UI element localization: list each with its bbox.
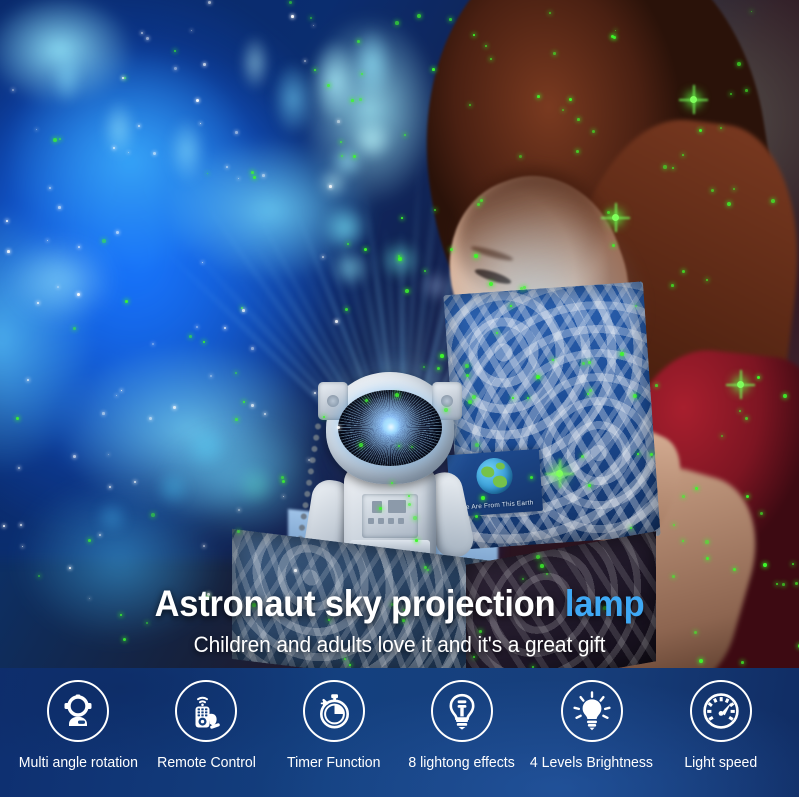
laser-star-dot	[620, 352, 624, 356]
nebula-sparkle	[99, 534, 101, 536]
laser-star-dot	[792, 563, 794, 565]
laser-star-dot	[88, 539, 91, 542]
feature-item-3[interactable]: 8 lightong effects	[398, 680, 526, 771]
laser-star-dot	[189, 335, 192, 338]
laser-star-dot	[174, 50, 176, 52]
nebula-sparkle	[153, 152, 156, 155]
laser-star-dot	[552, 359, 554, 361]
laser-star-dot	[536, 555, 540, 559]
laser-star-dot	[637, 453, 639, 455]
nebula-sparkle	[238, 509, 240, 511]
laser-star-dot	[395, 21, 399, 25]
laser-star-flare	[737, 381, 744, 388]
laser-star-dot	[340, 141, 342, 143]
feature-label: Timer Function	[287, 754, 381, 771]
laser-star-dot	[720, 127, 722, 129]
nebula-sparkle	[149, 417, 152, 420]
nebula-sparkle	[337, 120, 340, 123]
nebula-sparkle	[113, 147, 115, 149]
laser-star-dot	[587, 393, 589, 395]
feature-label: Light speed	[685, 754, 758, 771]
feature-label: Multi angle rotation	[18, 754, 137, 771]
laser-star-dot	[357, 40, 360, 43]
laser-star-dot	[243, 401, 245, 403]
laser-star-dot	[468, 400, 472, 404]
astronaut-helmet-icon	[47, 680, 109, 742]
laser-star-dot	[633, 394, 637, 398]
laser-star-dot	[432, 68, 435, 71]
laser-star-dot	[351, 99, 354, 102]
laser-star-dot	[359, 443, 363, 447]
laser-star-dot	[401, 217, 403, 219]
laser-star-flare	[612, 214, 619, 221]
laser-star-dot	[655, 384, 658, 387]
lightbulb-effects-icon	[431, 680, 493, 742]
nebula-sparkle	[69, 567, 71, 569]
nebula-sparkle	[203, 63, 206, 66]
laser-star-dot	[281, 476, 284, 479]
feature-banner: Multi angle rotation Remote Control	[0, 668, 799, 797]
nebula-sparkle	[27, 379, 29, 381]
nebula-sparkle	[314, 392, 316, 394]
laser-star-dot	[415, 539, 418, 542]
nebula-sparkle	[78, 246, 80, 248]
lightbulb-rays-icon	[561, 680, 623, 742]
nebula-sparkle	[262, 174, 265, 177]
laser-star-dot	[449, 18, 452, 21]
nebula-sparkle	[251, 347, 254, 350]
laser-star-dot	[588, 484, 591, 487]
feature-label: 8 lightong effects	[409, 754, 515, 771]
laser-star-dot	[472, 395, 476, 399]
laser-star-dot	[739, 410, 741, 412]
laser-star-dot	[73, 327, 76, 330]
laser-star-dot	[553, 52, 556, 55]
page-title: Astronaut sky projection lamp	[28, 583, 771, 625]
bokeh-light	[52, 52, 82, 104]
laser-star-dot	[469, 104, 471, 106]
nebula-sparkle	[322, 256, 324, 258]
nebula-sparkle	[173, 406, 176, 409]
laser-star-dot	[682, 270, 685, 273]
nebula-sparkle	[73, 455, 76, 458]
laser-star-dot	[473, 34, 475, 36]
product-marketing-banner: We Are From This Earth	[0, 0, 799, 797]
laser-star-dot	[235, 372, 237, 374]
laser-star-dot	[474, 254, 478, 258]
laser-star-dot	[771, 199, 775, 203]
feature-item-4[interactable]: 4 Levels Brightness	[526, 680, 657, 771]
nebula-sparkle	[116, 231, 119, 234]
nebula-sparkle	[329, 185, 332, 188]
laser-star-dot	[450, 248, 453, 251]
laser-star-dot	[481, 496, 485, 500]
laser-star-dot	[408, 495, 410, 497]
laser-star-dot	[699, 129, 702, 132]
laser-star-dot	[582, 362, 585, 365]
laser-star-dot	[444, 408, 448, 412]
laser-star-dot	[235, 418, 238, 421]
laser-star-dot	[745, 89, 748, 92]
nebula-sparkle	[141, 32, 143, 34]
globe-icon	[475, 457, 513, 495]
nebula-sparkle	[58, 206, 61, 209]
laser-star-dot	[490, 58, 492, 60]
laser-star-dot	[663, 165, 667, 169]
nebula-sparkle	[308, 459, 310, 461]
laser-star-dot	[611, 35, 614, 38]
bokeh-light	[95, 500, 129, 534]
laser-star-dot	[682, 495, 685, 498]
bokeh-light	[102, 100, 136, 158]
laser-star-dot	[523, 286, 526, 289]
laser-star-dot	[379, 507, 382, 510]
feature-list: Multi angle rotation Remote Control	[0, 668, 799, 797]
laser-star-dot	[289, 1, 292, 4]
nebula-sparkle	[251, 404, 254, 407]
laser-star-dot	[705, 540, 709, 544]
laser-star-dot	[512, 397, 514, 399]
laser-star-dot	[741, 661, 744, 664]
laser-star-dot	[577, 118, 580, 121]
laser-star-dot	[540, 564, 544, 568]
bokeh-light	[185, 425, 229, 469]
feature-label: 4 Levels Brightness	[530, 754, 653, 771]
nebula-sparkle	[77, 293, 80, 296]
laser-star-dot	[562, 109, 564, 111]
laser-star-dot	[465, 364, 469, 368]
nebula-sparkle	[37, 302, 39, 304]
laser-star-dot	[581, 455, 584, 458]
laser-star-dot	[59, 138, 61, 140]
nebula-sparkle	[152, 343, 154, 345]
laser-star-dot	[737, 62, 741, 66]
nebula-sparkle	[102, 412, 105, 415]
lens-light-core	[382, 418, 400, 436]
nebula-sparkle	[3, 525, 5, 527]
laser-star-dot	[53, 138, 57, 142]
title-main: Astronaut sky projection	[155, 583, 556, 624]
laser-star-dot	[151, 513, 155, 517]
laser-star-dot	[327, 84, 330, 87]
bokeh-light	[155, 470, 191, 506]
stopwatch-timer-icon	[303, 680, 365, 742]
laser-star-dot	[537, 95, 540, 98]
laser-star-dot	[699, 659, 703, 663]
astronaut-chest-panel	[362, 494, 418, 538]
laser-star-dot	[475, 443, 479, 447]
laser-star-dot	[359, 98, 362, 101]
laser-star-dot	[650, 453, 653, 456]
laser-star-dot	[510, 305, 512, 307]
nebula-sparkle	[203, 545, 205, 547]
nebula-sparkle	[57, 286, 59, 288]
laser-star-dot	[489, 282, 493, 286]
nebula-sparkle	[335, 320, 338, 323]
nebula-sparkle	[242, 309, 245, 312]
laser-star-dot	[16, 417, 19, 420]
laser-star-dot	[549, 12, 551, 14]
hero-photo: We Are From This Earth	[0, 0, 799, 670]
laser-star-dot	[588, 361, 591, 364]
laser-star-dot	[672, 167, 674, 169]
laser-star-dot	[102, 239, 106, 243]
laser-star-dot	[671, 284, 674, 287]
nebula-sparkle	[7, 250, 10, 253]
feature-item-1[interactable]: Remote Control	[142, 680, 270, 771]
laser-star-dot	[413, 516, 417, 520]
laser-star-dot	[783, 394, 787, 398]
laser-star-dot	[125, 300, 128, 303]
nebula-sparkle	[337, 426, 340, 429]
nebula-sparkle	[264, 413, 266, 415]
laser-star-dot	[251, 171, 254, 174]
laser-star-dot	[546, 573, 548, 575]
page-subtitle: Children and adults love it and it's a g…	[20, 632, 779, 658]
remote-control-icon	[175, 680, 237, 742]
nebula-sparkle	[304, 60, 306, 62]
laser-star-dot	[576, 150, 579, 153]
laser-star-dot	[391, 482, 393, 484]
laser-star-dot	[361, 73, 363, 75]
feature-item-2[interactable]: Timer Function	[270, 680, 398, 771]
feature-item-0[interactable]: Multi angle rotation	[14, 680, 142, 771]
laser-star-dot	[682, 154, 684, 156]
laser-star-dot	[569, 98, 572, 101]
laser-star-flare	[690, 96, 697, 103]
feature-item-5[interactable]: Light speed	[657, 680, 785, 771]
title-accent: lamp	[565, 583, 645, 624]
speedometer-icon	[690, 680, 752, 742]
laser-star-dot	[405, 289, 409, 293]
laser-star-dot	[398, 257, 402, 261]
nebula-sparkle	[235, 131, 238, 134]
laser-star-dot	[417, 14, 421, 18]
laser-star-dot	[485, 45, 487, 47]
laser-star-dot	[721, 435, 723, 437]
nebula-sparkle	[294, 569, 297, 572]
headline-block: Astronaut sky projection lamp Children a…	[0, 583, 799, 658]
laser-star-flare	[556, 470, 563, 477]
laser-star-dot	[763, 563, 767, 567]
feature-label: Remote Control	[157, 754, 256, 771]
laser-star-dot	[395, 393, 399, 397]
nebula-sparkle	[291, 15, 294, 18]
projector-visor-lens	[338, 390, 442, 466]
nebula-sparkle	[6, 220, 8, 222]
laser-star-dot	[440, 354, 444, 358]
laser-star-dot	[237, 530, 240, 533]
nebula-sparkle	[226, 166, 228, 168]
laser-star-dot	[536, 375, 540, 379]
laser-star-dot	[727, 202, 731, 206]
